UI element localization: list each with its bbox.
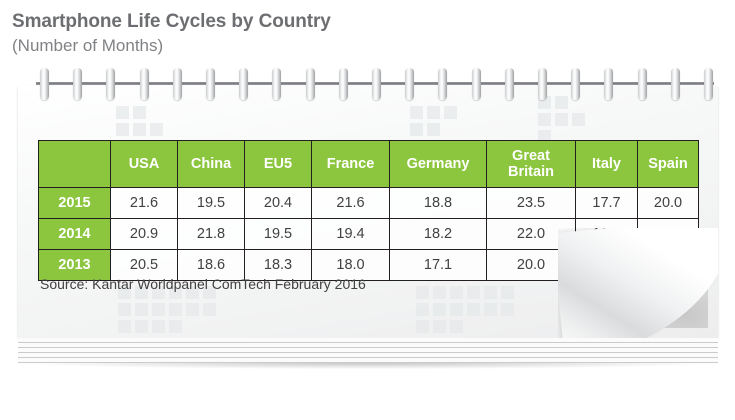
cell-2014-usa: 20.9 [111, 219, 178, 250]
watermark-square [133, 123, 146, 136]
cell-2015-great-britain: 23.5 [487, 188, 576, 219]
spiral-binding-ring [339, 68, 348, 100]
watermark-square [427, 123, 440, 136]
watermark-square [433, 320, 446, 333]
watermark-square [501, 286, 514, 299]
source-note: Source: Kantar Worldpanel ComTech Februa… [40, 276, 366, 292]
cell-2014-china: 21.8 [178, 219, 245, 250]
spiral-binding-ring [405, 68, 414, 100]
watermark-square [152, 303, 165, 316]
watermark-square [135, 303, 148, 316]
watermark-square [150, 123, 163, 136]
spiral-binding-ring [239, 68, 248, 100]
column-header-eu5: EU5 [245, 141, 312, 188]
spiral-binding-ring [206, 68, 215, 100]
cell-2014-great-britain: 22.0 [487, 219, 576, 250]
cell-2015-italy: 17.7 [576, 188, 638, 219]
watermark-square [427, 106, 440, 119]
column-header-france: France [312, 141, 390, 188]
data-table: USA China EU5 France Germany Great Brita… [38, 140, 699, 281]
page-subtitle: (Number of Months) [12, 34, 735, 57]
chart-header: Smartphone Life Cycles by Country (Numbe… [0, 0, 735, 66]
spiral-binding-ring [638, 68, 647, 100]
watermark-square [450, 320, 463, 333]
watermark-square [450, 303, 463, 316]
row-label-2014: 2014 [39, 219, 111, 250]
spiral-binding-ring [140, 68, 149, 100]
watermark-square [116, 106, 129, 119]
spiral-binding-ring [73, 68, 82, 100]
cell-2013-germany: 17.1 [390, 250, 487, 281]
cell-2015-france: 21.6 [312, 188, 390, 219]
watermark-square [416, 303, 429, 316]
watermark-square [538, 113, 551, 126]
watermark-square [169, 303, 182, 316]
cell-2014-eu5: 19.5 [245, 219, 312, 250]
watermark-square [501, 303, 514, 316]
watermark-square [118, 303, 131, 316]
notepad-page: USA China EU5 France Germany Great Brita… [18, 86, 718, 338]
column-header-great-britain: Great Britain [487, 141, 576, 188]
cell-2015-germany: 18.8 [390, 188, 487, 219]
spiral-binding-ring [538, 68, 547, 100]
cell-2013-spain: 16.6 [638, 250, 699, 281]
watermark-square [444, 106, 457, 119]
watermark-square [484, 303, 497, 316]
spiral-binding-ring [40, 68, 49, 100]
watermark-square [416, 320, 429, 333]
table-header-row: USA China EU5 France Germany Great Brita… [39, 141, 699, 188]
page-title: Smartphone Life Cycles by Country [12, 10, 735, 34]
table-corner-header [39, 141, 111, 188]
cell-2015-china: 19.5 [178, 188, 245, 219]
cell-2014-italy: 18.7 [576, 219, 638, 250]
table-row: 2014 20.9 21.8 19.5 19.4 18.2 22.0 18.7 … [39, 219, 699, 250]
spiral-binding-ring [472, 68, 481, 100]
page-stack [18, 338, 718, 364]
column-header-china: China [178, 141, 245, 188]
watermark-square [572, 113, 585, 126]
watermark-square [555, 113, 568, 126]
spiral-binding-ring [173, 68, 182, 100]
cell-2015-spain: 20.0 [638, 188, 699, 219]
watermark-square [467, 303, 480, 316]
column-header-spain: Spain [638, 141, 699, 188]
spiral-binding-ring [438, 68, 447, 100]
watermark-square [416, 286, 429, 299]
cell-2015-usa: 21.6 [111, 188, 178, 219]
watermark-square [118, 320, 131, 333]
notepad-graphic: USA China EU5 France Germany Great Brita… [18, 86, 718, 371]
watermark-square [169, 320, 182, 333]
table-row: 2015 21.6 19.5 20.4 21.6 18.8 23.5 17.7 … [39, 188, 699, 219]
spiral-binding-ring [671, 68, 680, 100]
cell-2013-italy: 18.6 [576, 250, 638, 281]
page-stack-shadow [24, 363, 712, 369]
spiral-binding-ring [505, 68, 514, 100]
watermark-square [116, 123, 129, 136]
cell-2014-germany: 18.2 [390, 219, 487, 250]
column-header-germany: Germany [390, 141, 487, 188]
spiral-binding-ring [372, 68, 381, 100]
spiral-binding-ring [306, 68, 315, 100]
watermark-square [484, 286, 497, 299]
cell-2014-france: 19.4 [312, 219, 390, 250]
watermark-square [133, 106, 146, 119]
column-header-italy: Italy [576, 141, 638, 188]
watermark-square [410, 123, 423, 136]
row-label-2015: 2015 [39, 188, 111, 219]
watermark-square [203, 303, 216, 316]
watermark-square [467, 286, 480, 299]
spiral-binding-ring [106, 68, 115, 100]
cell-2014-spain: 18.2 [638, 219, 699, 250]
watermark-square [410, 106, 423, 119]
column-header-usa: USA [111, 141, 178, 188]
spiral-binding-ring [704, 68, 713, 100]
spiral-binding [14, 68, 726, 102]
watermark-square [186, 303, 199, 316]
watermark-square [433, 303, 446, 316]
watermark-square [135, 320, 148, 333]
watermark-square [450, 286, 463, 299]
spiral-binding-ring [272, 68, 281, 100]
cell-2015-eu5: 20.4 [245, 188, 312, 219]
watermark-square [152, 320, 165, 333]
watermark-square [433, 286, 446, 299]
spiral-binding-ring [604, 68, 613, 100]
cell-2013-great-britain: 20.0 [487, 250, 576, 281]
spiral-binding-ring [571, 68, 580, 100]
